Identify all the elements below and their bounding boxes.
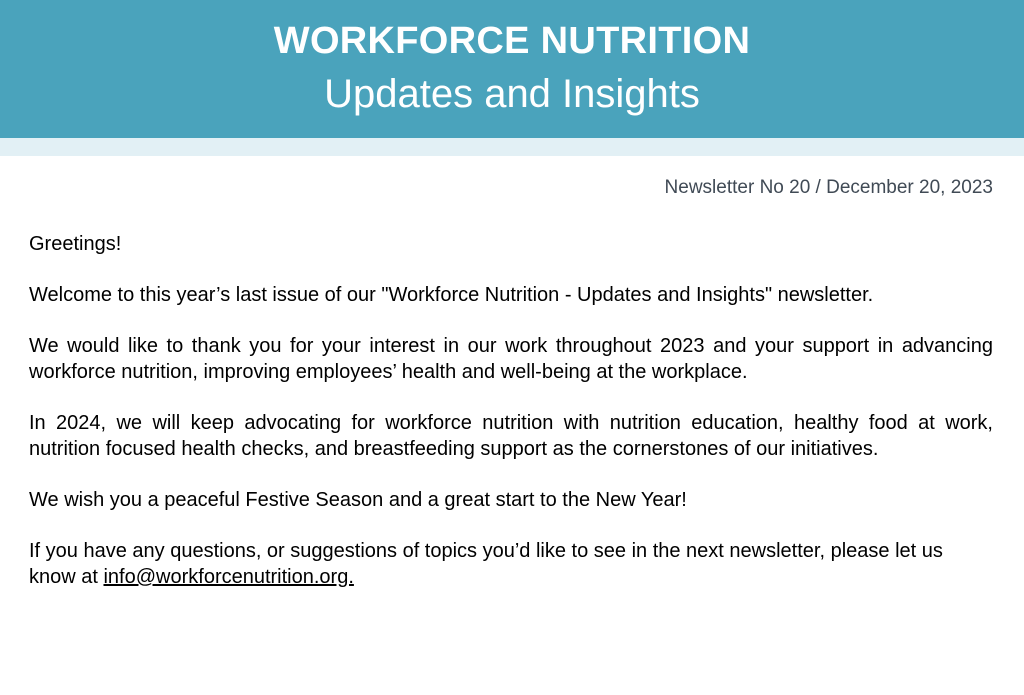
header-accent-strip: [0, 138, 1024, 156]
page-subtitle: Updates and Insights: [324, 69, 700, 119]
paragraph-welcome: Welcome to this year’s last issue of our…: [29, 282, 993, 308]
page-title: WORKFORCE NUTRITION: [274, 18, 750, 64]
newsletter-body: Newsletter No 20 / December 20, 2023 Gre…: [0, 176, 1024, 590]
paragraph-2024-plans: In 2024, we will keep advocating for wor…: [29, 410, 993, 462]
newsletter-page: WORKFORCE NUTRITION Updates and Insights…: [0, 0, 1024, 695]
issue-meta: Newsletter No 20 / December 20, 2023: [29, 176, 993, 200]
greeting-text: Greetings!: [29, 231, 993, 257]
contact-email-link[interactable]: info@workforcenutrition.org.: [103, 566, 353, 588]
paragraph-contact: If you have any questions, or suggestion…: [29, 538, 993, 590]
paragraph-festive-wishes: We wish you a peaceful Festive Season an…: [29, 487, 993, 513]
header-banner: WORKFORCE NUTRITION Updates and Insights: [0, 0, 1024, 138]
paragraph-thanks: We would like to thank you for your inte…: [29, 333, 993, 385]
